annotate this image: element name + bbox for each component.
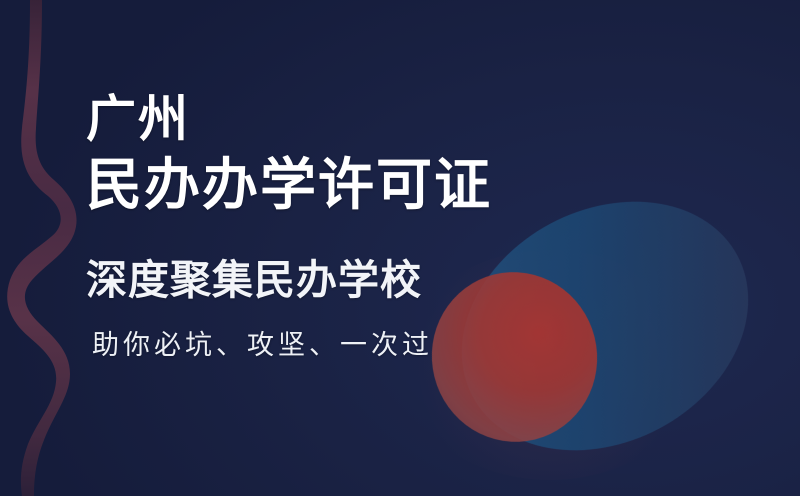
title-line-main: 民办办学许可证 [86,152,492,220]
banner-content: 广州 民办办学许可证 深度聚集民办学校 助你必坑、攻坚、一次过 [86,0,726,496]
title-line-city: 广州 [86,88,492,150]
banner-title: 广州 民办办学许可证 [86,88,492,220]
promo-banner: 广州 民办办学许可证 深度聚集民办学校 助你必坑、攻坚、一次过 [0,0,800,496]
banner-tagline: 助你必坑、攻坚、一次过 [92,327,433,365]
banner-subtitle: 深度聚集民办学校 [86,256,422,304]
